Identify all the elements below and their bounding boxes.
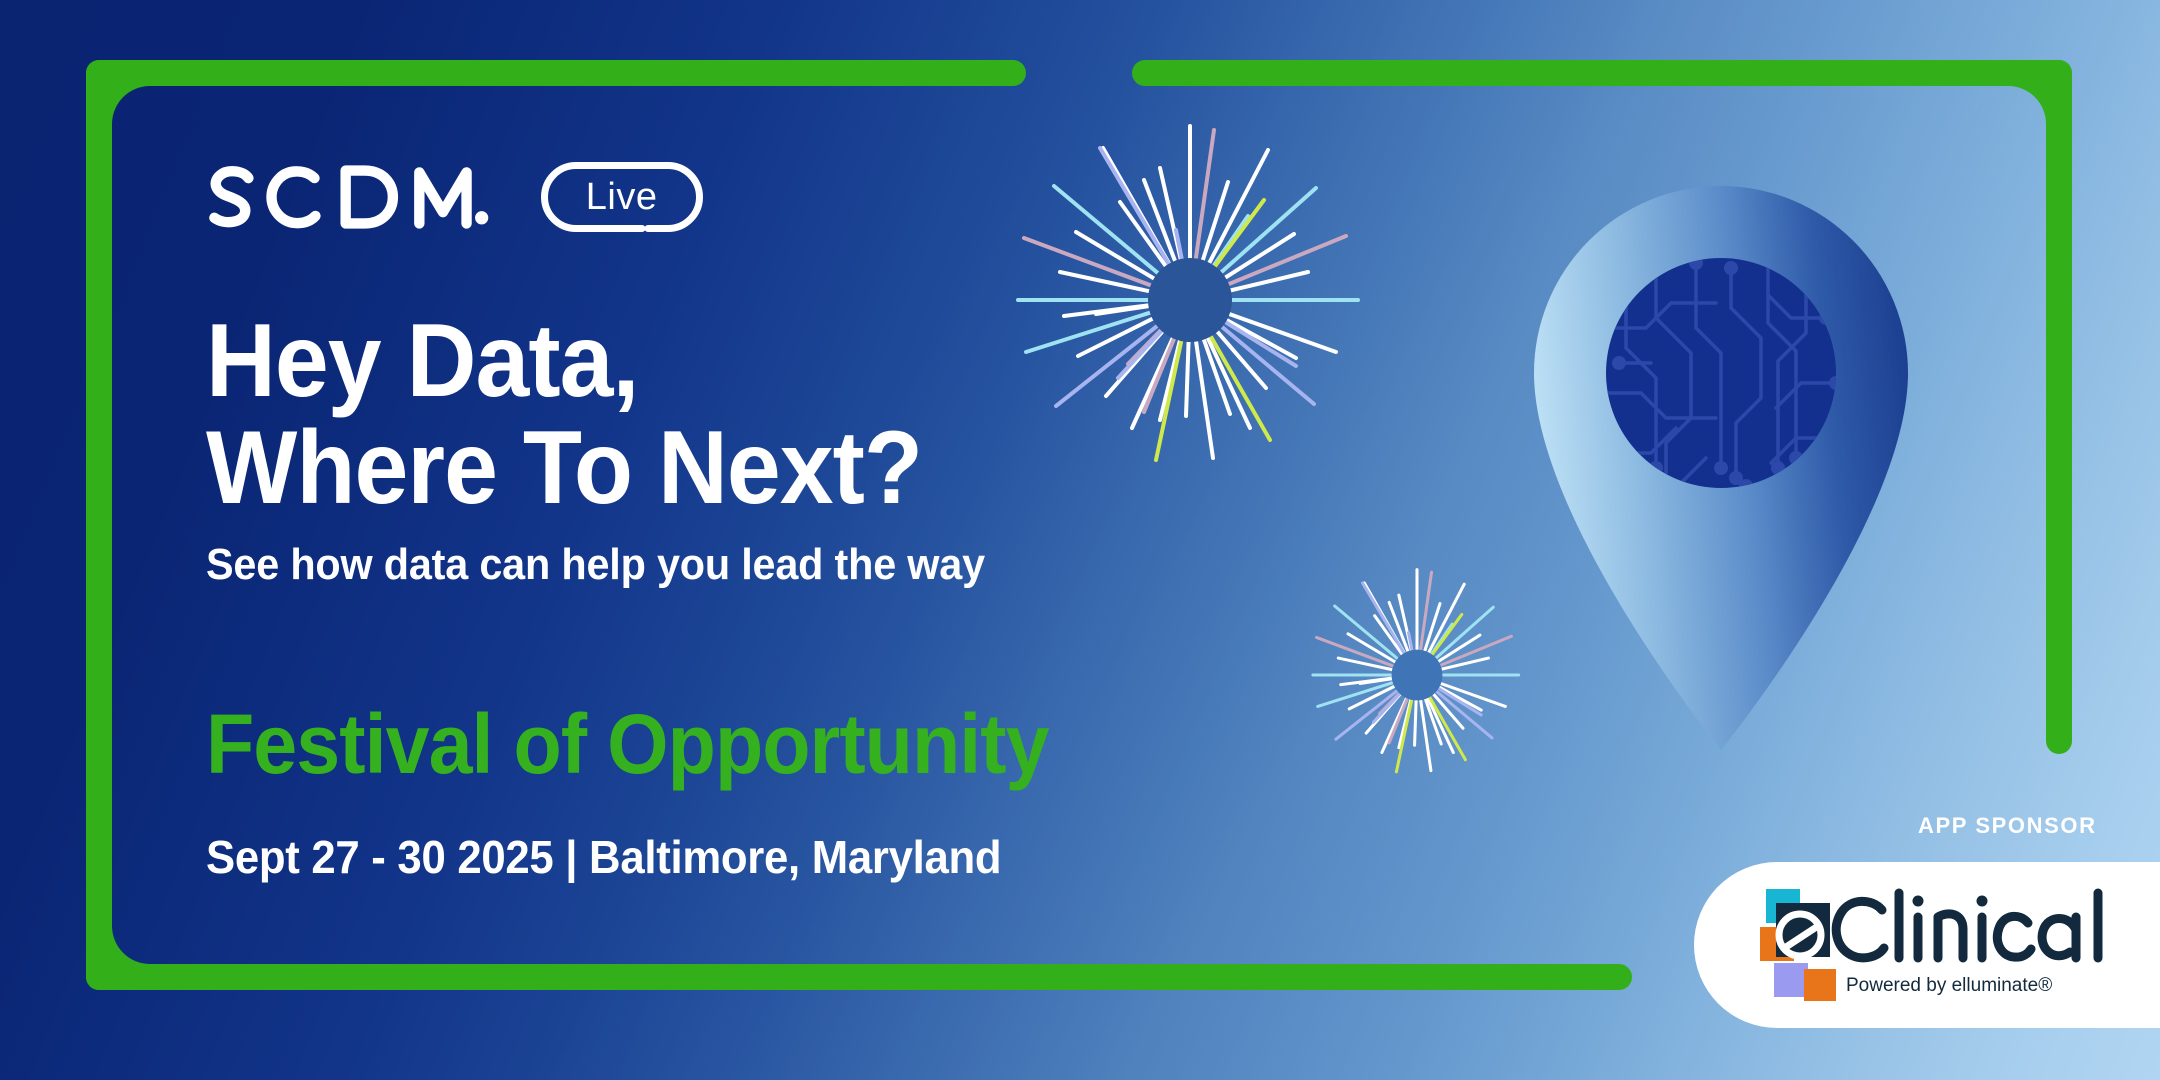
location-pin-icon bbox=[1506, 168, 1936, 758]
scdm-dot-icon bbox=[475, 211, 488, 224]
subtitle: See how data can help you lead the way bbox=[206, 540, 1240, 590]
eclinical-logo-icon: Powered by elluminate® bbox=[1760, 885, 2120, 1005]
firework-burst-icon bbox=[1302, 560, 1532, 790]
eclinical-square-orange-2 bbox=[1804, 969, 1836, 1001]
date-location: Sept 27 - 30 2025 | Baltimore, Maryland bbox=[206, 830, 1251, 884]
frame-border-top-left bbox=[86, 60, 1026, 86]
live-badge-label: Live bbox=[538, 160, 706, 234]
sponsor-tagline: Powered by elluminate® bbox=[1846, 975, 2052, 996]
frame-border-left bbox=[86, 60, 112, 990]
firework-center-icon bbox=[1148, 258, 1232, 342]
frame-border-top-right bbox=[1132, 60, 2072, 86]
event-promo-banner: Live Hey Data, Where To Next? See how da… bbox=[0, 0, 2160, 1080]
frame-border-bottom bbox=[86, 964, 1632, 990]
firework-burst-icon bbox=[1000, 110, 1380, 490]
scdm-wordmark-icon bbox=[204, 163, 516, 231]
live-badge: Live bbox=[538, 160, 706, 234]
scdm-live-logo: Live bbox=[204, 160, 706, 234]
sponsor-card[interactable]: Powered by elluminate® bbox=[1694, 862, 2160, 1028]
festival-title: Festival of Opportunity bbox=[206, 702, 1240, 786]
frame-corner-top-left bbox=[86, 60, 206, 180]
firework-center-icon bbox=[1392, 650, 1443, 701]
app-sponsor-label: APP SPONSOR bbox=[1918, 813, 2097, 839]
eclinical-square-purple bbox=[1774, 963, 1808, 997]
